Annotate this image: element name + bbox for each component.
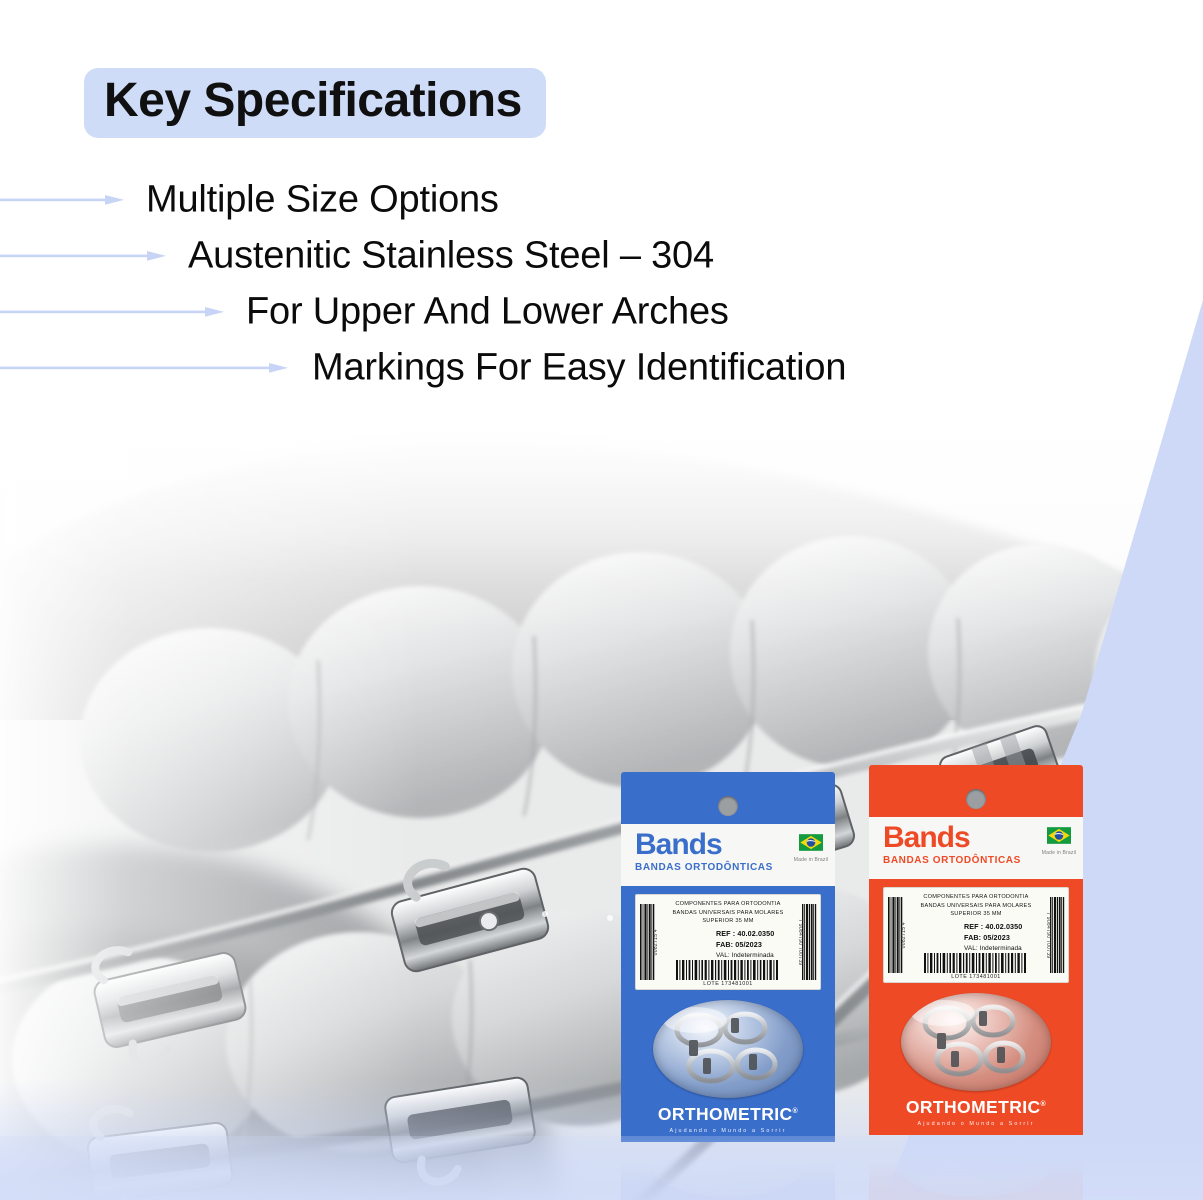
- barcode-left: 0082715 4: [636, 895, 658, 989]
- product-package-blue[interactable]: Bands BANDAS ORTODÔNTICAS Made in Brazil: [621, 772, 835, 1142]
- brazil-flag-icon: [1047, 827, 1071, 844]
- label-line-3: SUPERIOR 35 MM: [660, 917, 796, 926]
- logo-tagline: Ajudando o Mundo a Sorrir: [869, 1121, 1083, 1127]
- specifications-list: Multiple Size Options Austenitic Stainle…: [0, 172, 1050, 396]
- orthometric-logo: ORTHOMETRIC®: [658, 1106, 798, 1124]
- made-in-text: Made in Brazil: [1041, 850, 1077, 856]
- label-ref: REF : 40.02.0350: [716, 929, 796, 940]
- package-lower: 0082715 4 COMPONENTES PARA ORTODONTIA BA…: [621, 886, 835, 1142]
- package-body: Bands BANDAS ORTODÔNTICAS Made in Brazil: [621, 772, 835, 1142]
- hang-hole-icon: [966, 789, 986, 809]
- brand-logo-row: ORTHOMETRIC® Ajudando o Mundo a Sorrir: [621, 1106, 835, 1134]
- label-line-2: BANDAS UNIVERSAIS PARA MOLARES: [660, 909, 796, 918]
- label-line-1: COMPONENTES PARA ORTODONTIA: [908, 893, 1044, 902]
- barcode-left: 0082715 4: [884, 888, 906, 982]
- package-brand-band: Bands BANDAS ORTODÔNTICAS Made in Brazil: [621, 824, 835, 886]
- barcode-right-number: 7 9084790 700739: [1045, 912, 1051, 959]
- product-package-red[interactable]: Bands BANDAS ORTODÔNTICAS Made in Brazil: [869, 765, 1083, 1135]
- product-label: 0082715 4 COMPONENTES PARA ORTODONTIA BA…: [883, 887, 1069, 983]
- logo-tagline: Ajudando o Mundo a Sorrir: [621, 1128, 835, 1134]
- barcode-left-number: 0082715 4: [653, 929, 659, 955]
- arrow-icon-3: [0, 305, 224, 319]
- spec-item-label: For Upper And Lower Arches: [246, 291, 729, 334]
- spec-item: Austenitic Stainless Steel – 304: [0, 228, 1050, 284]
- spec-item: Multiple Size Options: [0, 172, 1050, 228]
- registered-mark: ®: [1041, 1101, 1047, 1108]
- label-ref-block: REF : 40.02.0350 FAB: 05/2023 VAL: Indet…: [660, 929, 796, 960]
- made-in-brazil-block: Made in Brazil: [793, 834, 829, 863]
- label-fab: FAB: 05/2023: [964, 933, 1044, 944]
- orthometric-logo-text: ORTHOMETRIC: [906, 1097, 1041, 1117]
- brand-subtitle: BANDAS ORTODÔNTICAS: [635, 862, 835, 873]
- label-ref: REF : 40.02.0350: [964, 922, 1044, 933]
- made-in-brazil-block: Made in Brazil: [1041, 827, 1077, 856]
- orthometric-logo-text: ORTHOMETRIC: [658, 1104, 793, 1124]
- arrow-icon-4: [0, 361, 288, 375]
- label-val: VAL: Indeterminada: [964, 944, 1044, 954]
- barcode-left-number: 0082715 4: [901, 922, 907, 948]
- label-fab: FAB: 05/2023: [716, 940, 796, 951]
- barcode-right-number: 7 9084790 700739: [797, 919, 803, 966]
- hang-hole-icon: [718, 796, 738, 816]
- barcode-right: 7 9084790 700739: [798, 895, 820, 989]
- label-lote: LOTE 173481001: [660, 981, 796, 987]
- package-body: Bands BANDAS ORTODÔNTICAS Made in Brazil: [869, 765, 1083, 1135]
- made-in-text: Made in Brazil: [793, 857, 829, 863]
- blister-window: [901, 993, 1051, 1091]
- barcode-bottom: LOTE 173481001: [908, 953, 1044, 982]
- label-val: VAL: Indeterminada: [716, 951, 796, 961]
- spec-item: Markings For Easy Identification: [0, 340, 1050, 396]
- orthometric-logo: ORTHOMETRIC®: [906, 1099, 1046, 1117]
- package-lower: 0082715 4 COMPONENTES PARA ORTODONTIA BA…: [869, 879, 1083, 1135]
- label-lote: LOTE 173481001: [908, 974, 1044, 980]
- barcode-right: 7 9084790 700739: [1046, 888, 1068, 982]
- package-header-strip: [869, 765, 1083, 817]
- spec-item-label: Austenitic Stainless Steel – 304: [188, 235, 714, 278]
- label-ref-block: REF : 40.02.0350 FAB: 05/2023 VAL: Indet…: [908, 922, 1044, 953]
- label-line-1: COMPONENTES PARA ORTODONTIA: [660, 900, 796, 909]
- brand-subtitle: BANDAS ORTODÔNTICAS: [883, 855, 1083, 866]
- arrow-icon-1: [0, 193, 124, 207]
- blister-window: [653, 1000, 803, 1098]
- barcode-bottom: LOTE 173481001: [660, 960, 796, 989]
- brazil-flag-icon: [799, 834, 823, 851]
- page-title: Key Specifications: [84, 68, 546, 138]
- package-header-strip: [621, 772, 835, 824]
- product-label: 0082715 4 COMPONENTES PARA ORTODONTIA BA…: [635, 894, 821, 990]
- brand-logo-row: ORTHOMETRIC® Ajudando o Mundo a Sorrir: [869, 1099, 1083, 1127]
- page-title-text: Key Specifications: [104, 74, 522, 127]
- spec-item-label: Markings For Easy Identification: [312, 347, 846, 390]
- package-brand-band: Bands BANDAS ORTODÔNTICAS Made in Brazil: [869, 817, 1083, 879]
- label-line-2: BANDAS UNIVERSAIS PARA MOLARES: [908, 902, 1044, 911]
- label-text-block: COMPONENTES PARA ORTODONTIA BANDAS UNIVE…: [658, 895, 798, 989]
- arrow-icon-2: [0, 249, 166, 263]
- label-line-3: SUPERIOR 35 MM: [908, 910, 1044, 919]
- label-text-block: COMPONENTES PARA ORTODONTIA BANDAS UNIVE…: [906, 888, 1046, 982]
- promo-graphic: Key Specifications Multiple Size Options…: [0, 0, 1203, 1200]
- registered-mark: ®: [793, 1108, 799, 1115]
- spec-item-label: Multiple Size Options: [146, 179, 499, 222]
- spec-item: For Upper And Lower Arches: [0, 284, 1050, 340]
